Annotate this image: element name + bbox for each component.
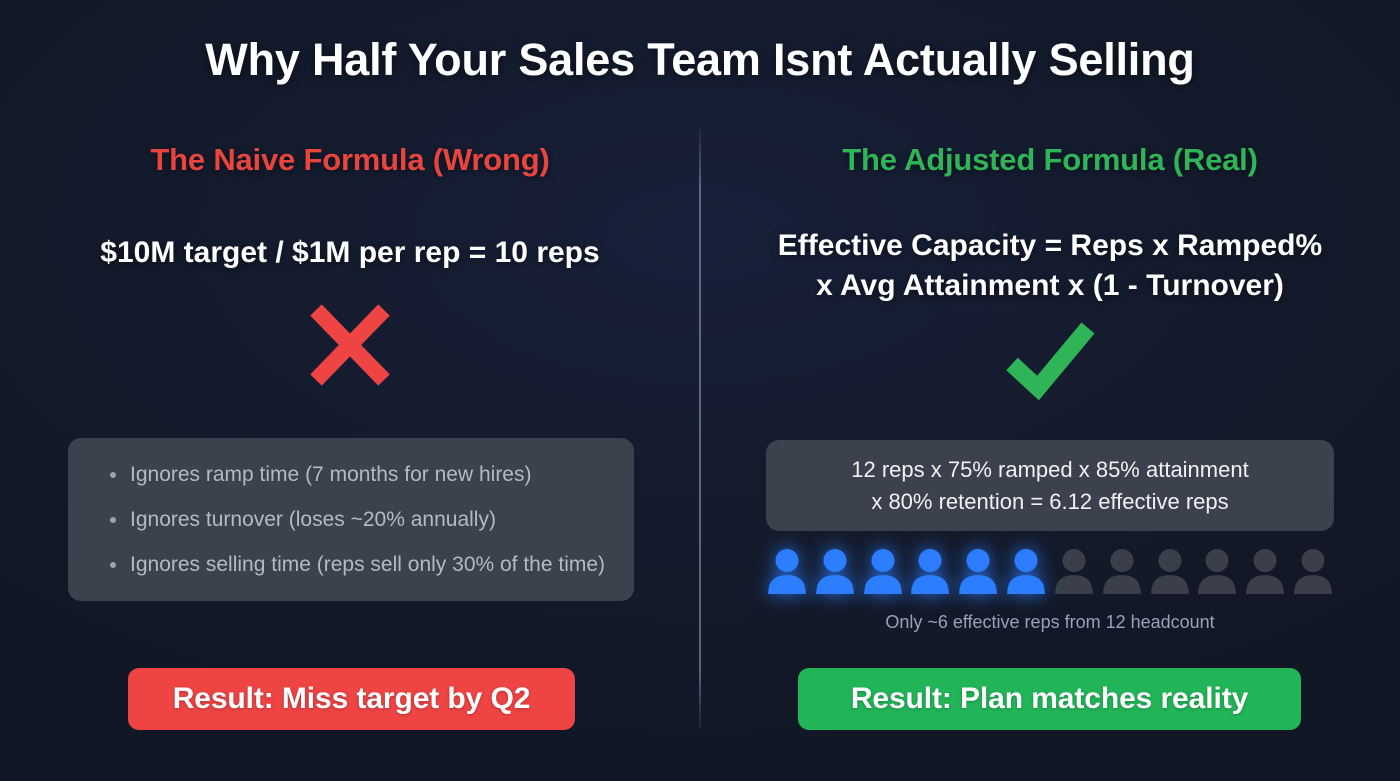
naive-issues-list: Ignores ramp time (7 months for new hire… xyxy=(68,464,634,575)
list-item: Ignores ramp time (7 months for new hire… xyxy=(108,464,634,485)
result-badge-wrong: Result: Miss target by Q2 xyxy=(128,668,575,730)
person-icon-active xyxy=(1005,548,1047,594)
result-badge-real: Result: Plan matches reality xyxy=(798,668,1301,730)
person-icon-active xyxy=(814,548,856,594)
person-icon-inactive xyxy=(1053,548,1095,594)
adjusted-formula-text: Effective Capacity = Reps x Ramped% x Av… xyxy=(720,226,1380,306)
column-divider xyxy=(699,128,701,730)
naive-issues-card: Ignores ramp time (7 months for new hire… xyxy=(68,438,634,601)
person-icon-inactive xyxy=(1101,548,1143,594)
person-icon-inactive xyxy=(1244,548,1286,594)
list-item: Ignores turnover (loses ~20% annually) xyxy=(108,509,634,530)
headcount-caption: Only ~6 effective reps from 12 headcount xyxy=(766,612,1334,633)
headcount-people-row xyxy=(766,548,1334,594)
person-icon-active xyxy=(862,548,904,594)
adjusted-formula-column: The Adjusted Formula (Real) Effective Ca… xyxy=(720,130,1380,750)
adjusted-formula-line-2: x Avg Attainment x (1 - Turnover) xyxy=(726,266,1374,306)
person-icon-inactive xyxy=(1292,548,1334,594)
capacity-calc-line-1: 12 reps x 75% ramped x 85% attainment xyxy=(851,454,1248,485)
check-icon xyxy=(1000,316,1100,400)
real-status-wrap xyxy=(720,310,1380,406)
capacity-calculation: 12 reps x 75% ramped x 85% attainment x … xyxy=(835,454,1264,516)
naive-formula-text: $10M target / $1M per rep = 10 reps xyxy=(20,233,680,273)
left-column-heading: The Naive Formula (Wrong) xyxy=(20,142,680,178)
naive-formula-column: The Naive Formula (Wrong) $10M target / … xyxy=(20,130,680,750)
person-icon-active xyxy=(766,548,808,594)
infographic-canvas: Why Half Your Sales Team Isnt Actually S… xyxy=(0,0,1400,781)
person-icon-inactive xyxy=(1196,548,1238,594)
capacity-calc-line-2: x 80% retention = 6.12 effective reps xyxy=(851,486,1248,517)
person-icon-active xyxy=(909,548,951,594)
right-column-heading: The Adjusted Formula (Real) xyxy=(720,142,1380,178)
wrong-status-wrap xyxy=(20,297,680,393)
cross-icon xyxy=(306,302,394,388)
list-item: Ignores selling time (reps sell only 30%… xyxy=(108,554,634,575)
effective-capacity-card: 12 reps x 75% ramped x 85% attainment x … xyxy=(766,440,1334,531)
page-title: Why Half Your Sales Team Isnt Actually S… xyxy=(0,34,1400,86)
person-icon-inactive xyxy=(1149,548,1191,594)
person-icon-active xyxy=(957,548,999,594)
adjusted-formula-line-1: Effective Capacity = Reps x Ramped% xyxy=(726,226,1374,266)
